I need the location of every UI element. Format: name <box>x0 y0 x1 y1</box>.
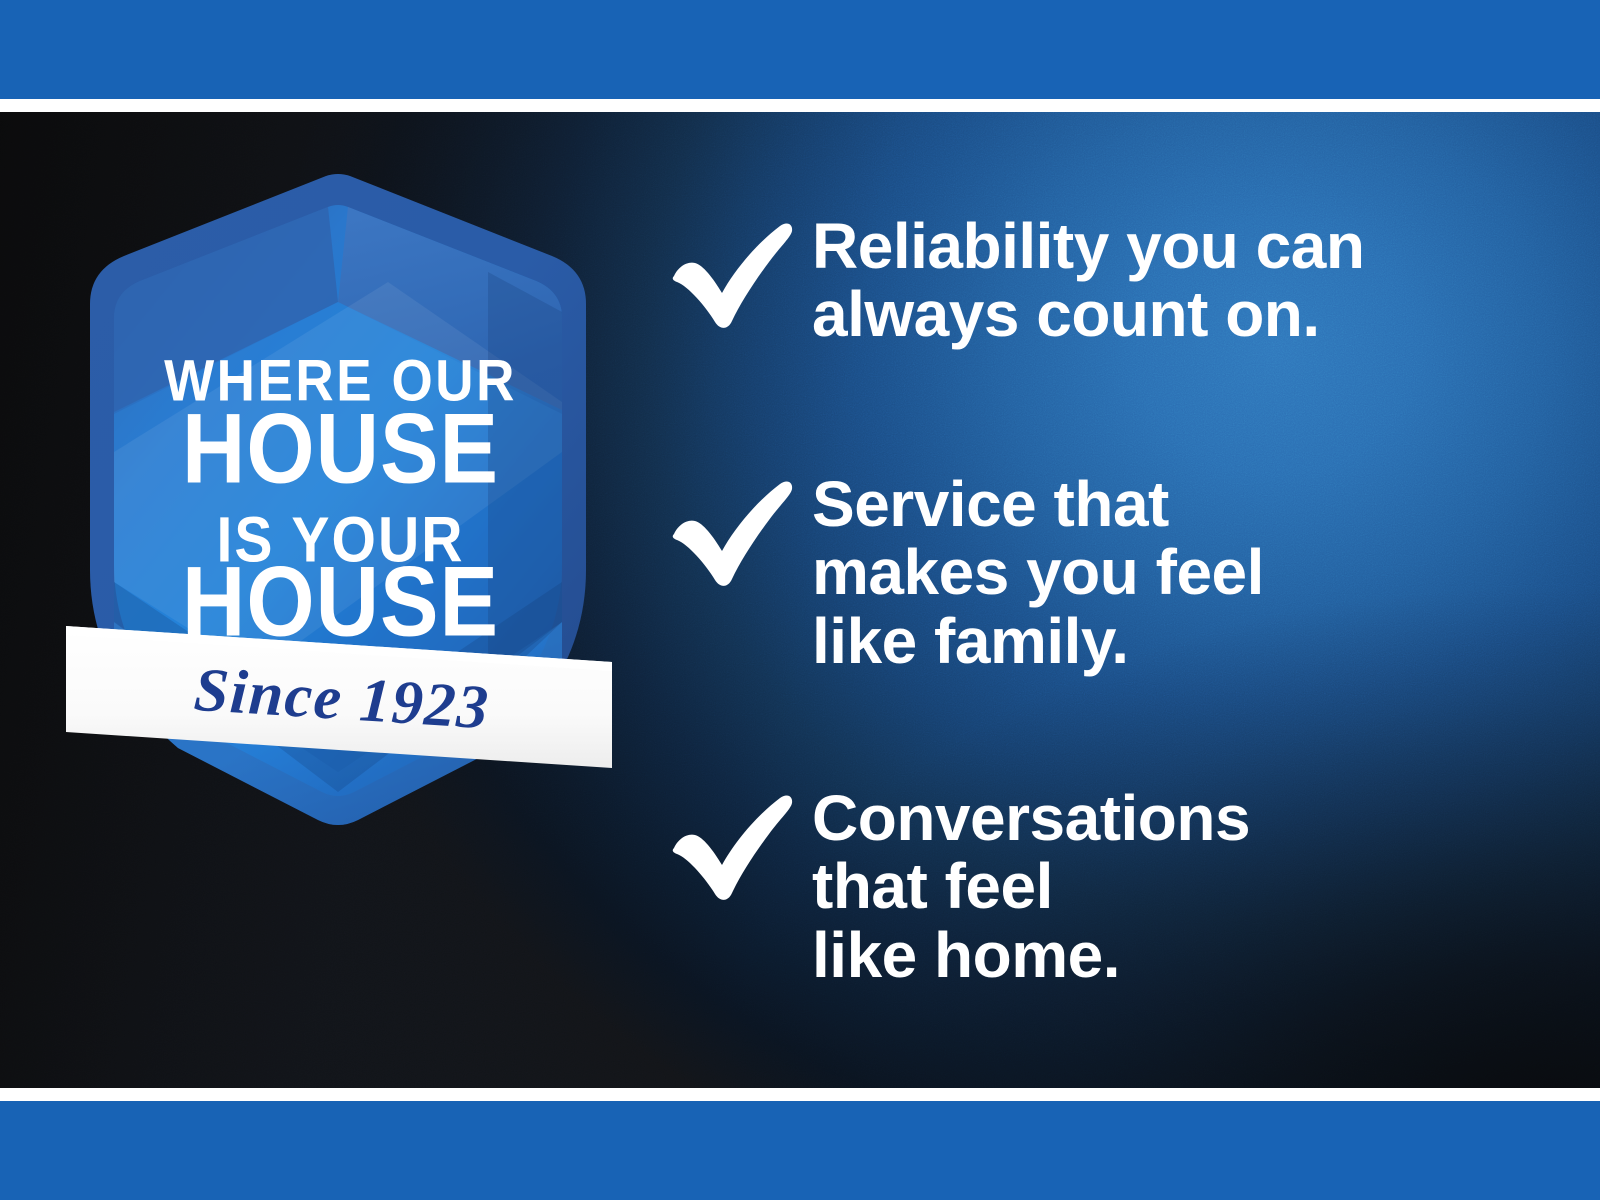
top-bar-divider <box>0 99 1600 112</box>
bottom-bar-divider <box>0 1088 1600 1101</box>
benefit-text: Service that makes you feel like family. <box>812 470 1264 675</box>
benefit-item: Reliability you can always count on. <box>668 212 1364 349</box>
checkmark-icon <box>668 476 796 588</box>
benefit-text: Reliability you can always count on. <box>812 212 1364 349</box>
benefit-item: Service that makes you feel like family. <box>668 470 1264 675</box>
logo-line-2: HOUSE <box>182 392 499 504</box>
bottom-brand-bar <box>0 1101 1600 1200</box>
checkmark-icon <box>668 218 796 330</box>
checkmark-icon <box>668 790 796 902</box>
benefit-text: Conversations that feel like home. <box>812 784 1250 989</box>
top-brand-bar <box>0 0 1600 99</box>
company-shield-logo: WHERE OUR HOUSE IS YOUR HOUSE Since 1923 <box>58 152 618 832</box>
benefits-list: Reliability you can always count on. Ser… <box>668 112 1568 1088</box>
logo-wordmark: WHERE OUR HOUSE IS YOUR HOUSE <box>164 348 517 657</box>
promo-graphic: WHERE OUR HOUSE IS YOUR HOUSE Since 1923… <box>0 0 1600 1200</box>
benefit-item: Conversations that feel like home. <box>668 784 1250 989</box>
